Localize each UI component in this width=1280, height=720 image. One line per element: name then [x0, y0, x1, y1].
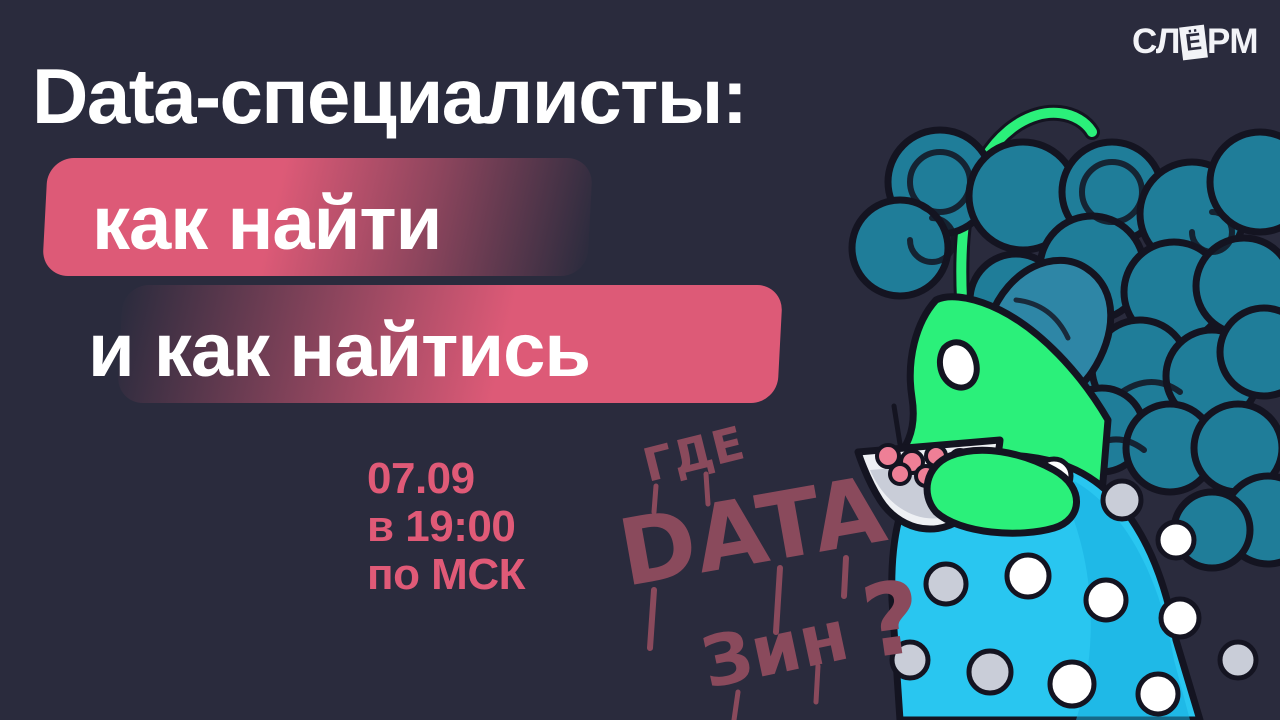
logo-text-part2: РМ — [1207, 23, 1258, 61]
logo-text-part1: СЛ — [1132, 23, 1180, 61]
event-timezone: по МСК — [367, 551, 525, 599]
event-datetime: 07.09 в 19:00 по МСК — [367, 455, 525, 599]
headline-row-2: и как найтись — [0, 285, 1280, 415]
event-date: 07.09 — [367, 455, 525, 503]
headline-line-3: и как найтись — [0, 285, 1280, 415]
page-title: Data-специалисты: — [32, 54, 746, 138]
headline-row-1: как найти — [0, 158, 1280, 288]
promo-banner: ГДЕ DATA Зин ? Data-специалисты: — [0, 0, 1280, 720]
graffiti-word-zin: Зин — [694, 594, 855, 720]
graffiti-zin-text: Зин — [694, 594, 855, 705]
graffiti-text: ГДЕ DATA Зин ? — [620, 420, 990, 720]
slurm-logo[interactable]: СЛ Ё РМ — [1132, 22, 1258, 62]
logo-boxed-letter: Ё — [1179, 24, 1208, 60]
graffiti-question-mark: ? — [855, 558, 929, 682]
event-time: в 19:00 — [367, 503, 525, 551]
graffiti-qmark-text: ? — [855, 558, 929, 682]
headline-line-2: как найти — [0, 158, 1280, 288]
